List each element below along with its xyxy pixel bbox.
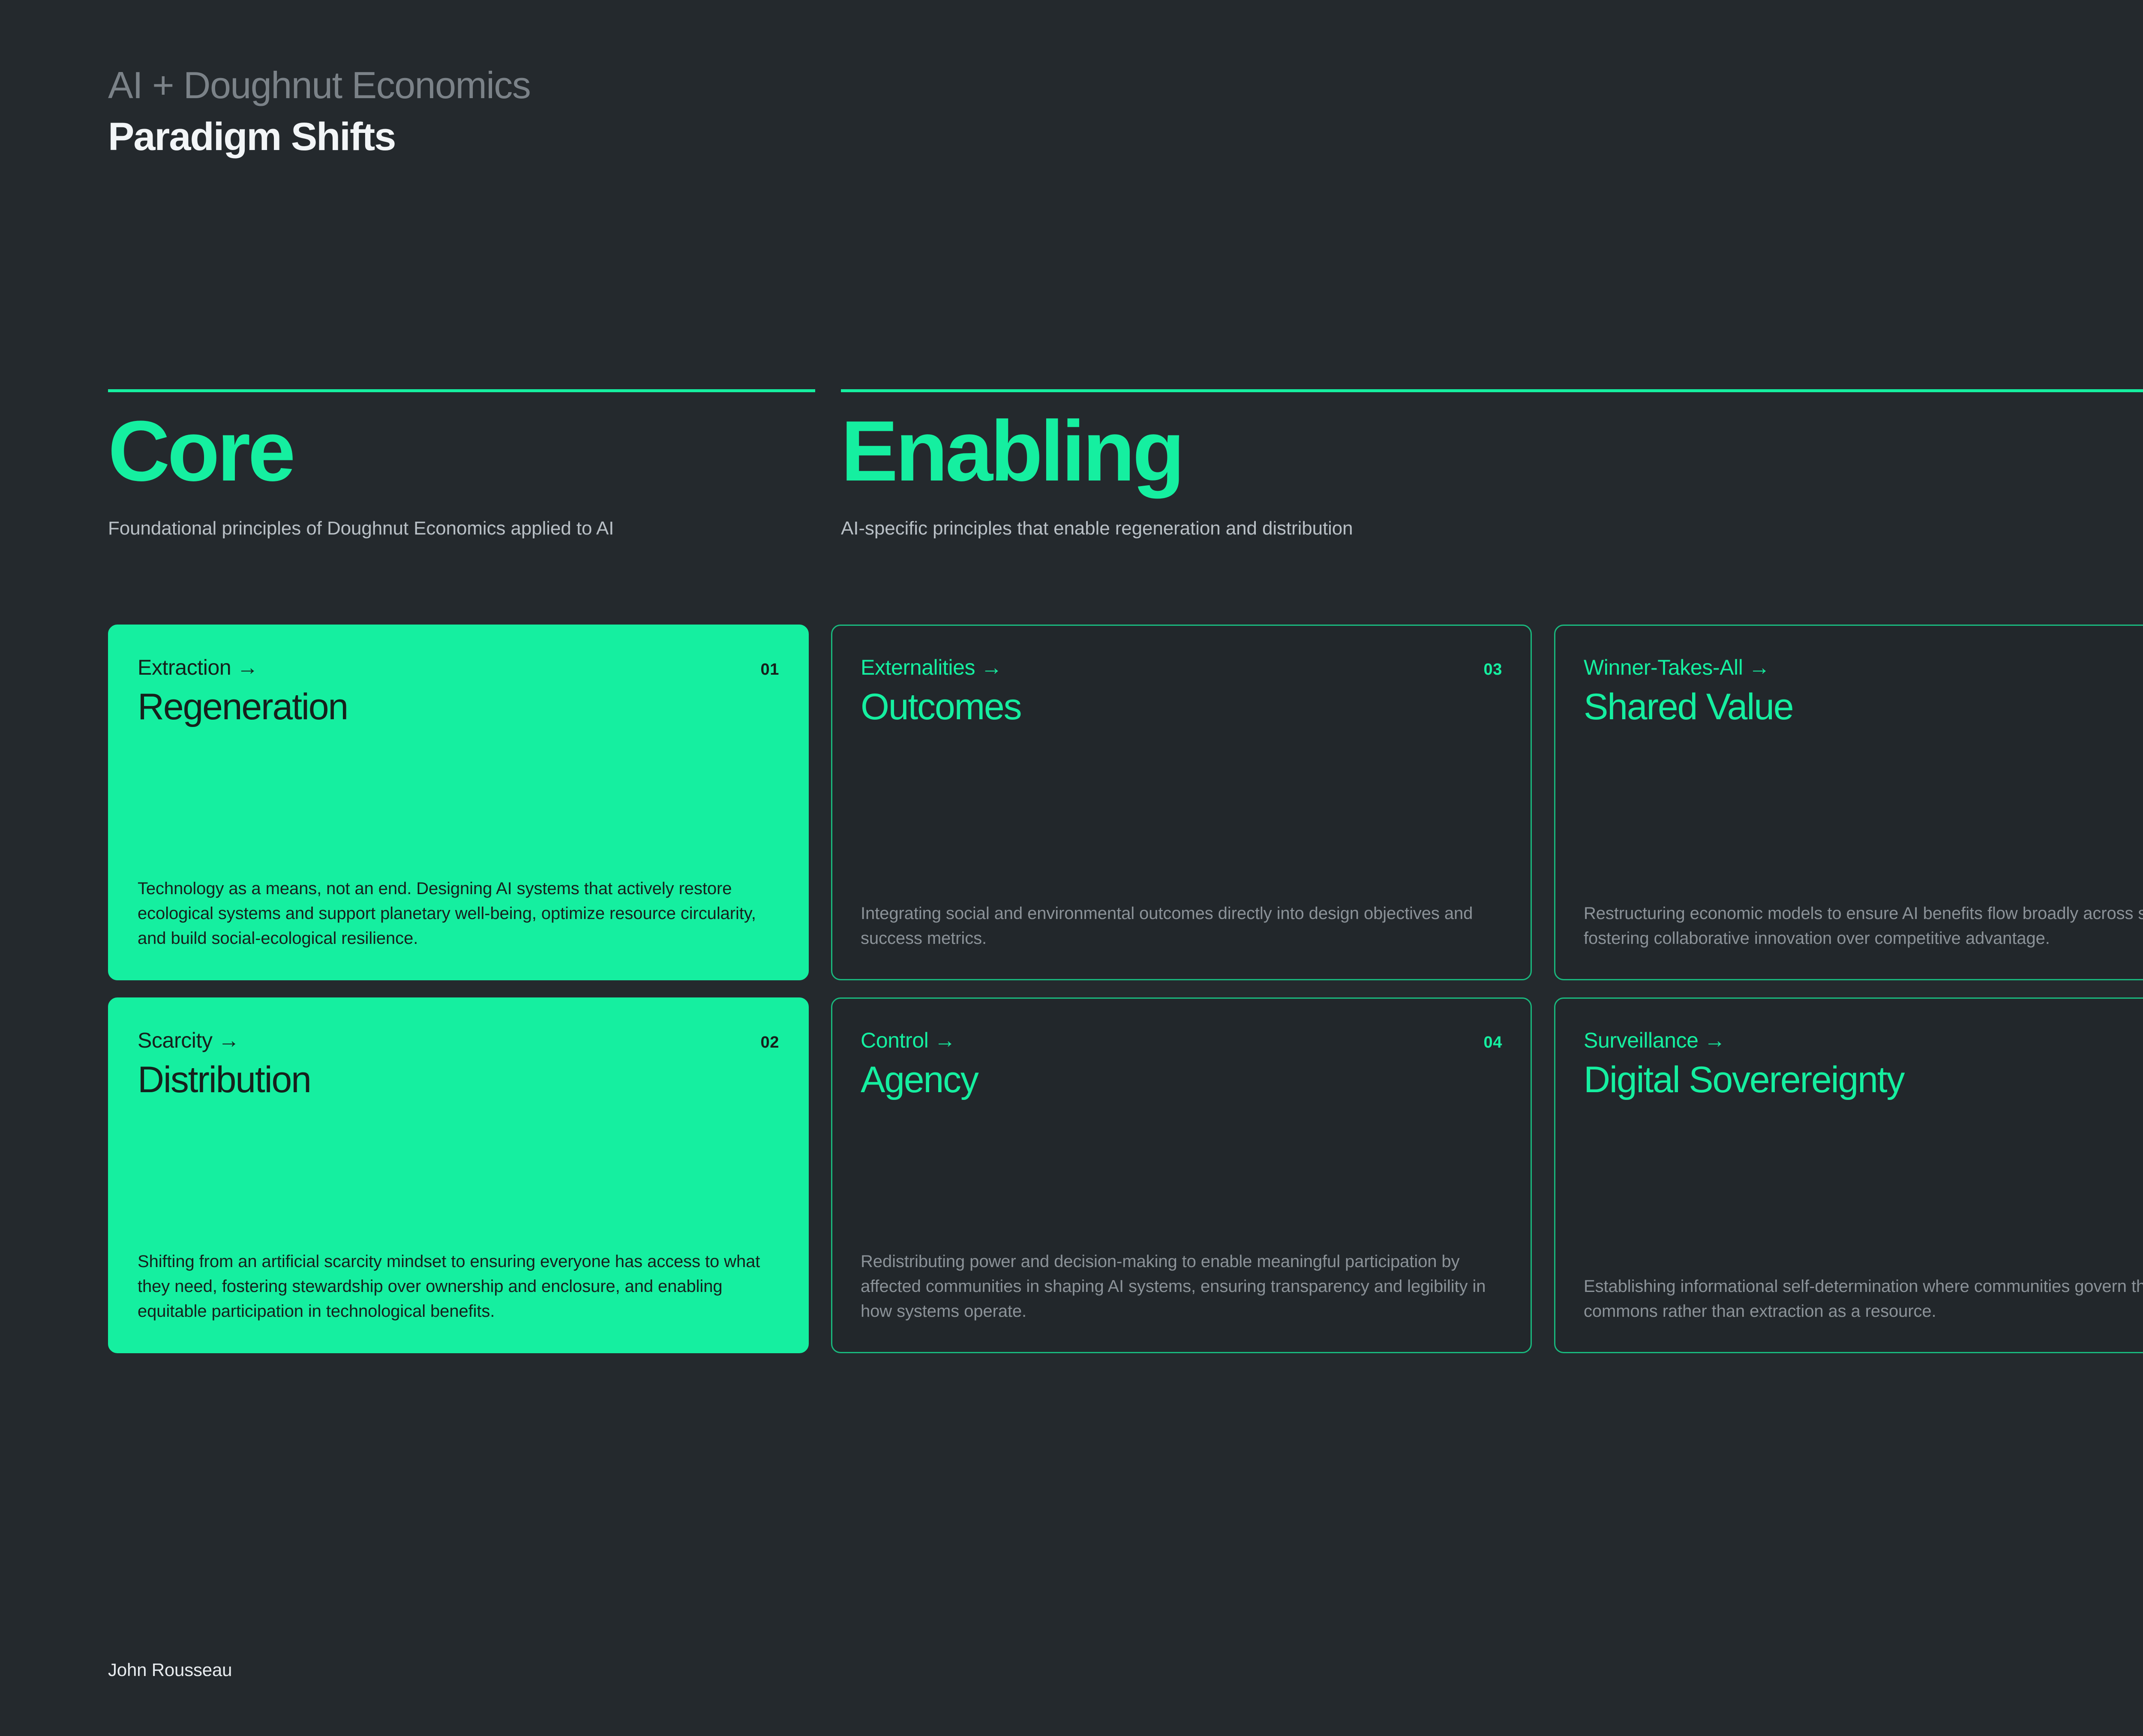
header: AI + Doughnut Economics Paradigm Shifts … [108, 0, 2143, 278]
card-to-label: Digital Soverereignty [1584, 1059, 2143, 1100]
principle-card[interactable]: Control → 04 Agency Redistributing power… [831, 997, 1532, 1353]
principle-card-grid: Extraction → 01 Regeneration Technology … [108, 625, 2143, 1353]
slide-root: AI + Doughnut Economics Paradigm Shifts … [0, 0, 2143, 1736]
section-core: Core Foundational principles of Doughnut… [108, 389, 815, 541]
section-enabling-description: AI-specific principles that enable regen… [841, 516, 2143, 541]
principle-card[interactable]: Extraction → 01 Regeneration Technology … [108, 625, 809, 980]
card-number: 03 [1484, 661, 1502, 679]
card-header: Scarcity → 02 [138, 1029, 779, 1052]
card-body-text: Integrating social and environmental out… [861, 901, 1502, 951]
principle-card[interactable]: Surveillance → 06 Digital Soverereignty … [1554, 997, 2143, 1353]
card-body-text: Redistributing power and decision-making… [861, 1249, 1502, 1324]
footer-author: John Rousseau [108, 1660, 232, 1680]
page-title: Paradigm Shifts [108, 114, 530, 160]
footer: John Rousseau johnrousseau.com 03.2025 [108, 1660, 2143, 1680]
card-number: 04 [1484, 1034, 1502, 1052]
card-from-label: Extraction → [138, 656, 258, 679]
section-core-description: Foundational principles of Doughnut Econ… [108, 516, 815, 541]
card-body-text: Technology as a means, not an end. Desig… [138, 876, 779, 951]
section-rule [841, 389, 2143, 392]
section-core-name: Core [108, 408, 815, 494]
principle-card[interactable]: Scarcity → 02 Distribution Shifting from… [108, 997, 809, 1353]
card-number: 01 [761, 661, 779, 679]
principle-card[interactable]: Winner-Takes-All → 05 Shared Value Restr… [1554, 625, 2143, 980]
card-header: Extraction → 01 [138, 656, 779, 679]
principle-card[interactable]: Externalities → 03 Outcomes Integrating … [831, 625, 1532, 980]
card-header: Control → 04 [861, 1029, 1502, 1052]
card-body-text: Establishing informational self-determin… [1584, 1274, 2143, 1324]
eyebrow-label: AI + Doughnut Economics [108, 64, 530, 107]
card-to-label: Shared Value [1584, 686, 2143, 727]
card-header: Externalities → 03 [861, 656, 1502, 679]
card-from-label: Scarcity → [138, 1029, 240, 1052]
card-from-label: Externalities → [861, 656, 1002, 679]
card-header: Winner-Takes-All → 05 [1584, 656, 2143, 679]
card-body-text: Shifting from an artificial scarcity min… [138, 1249, 779, 1324]
section-enabling: Enabling AI-specific principles that ena… [841, 389, 2143, 541]
card-to-label: Agency [861, 1059, 1502, 1100]
card-header: Surveillance → 06 [1584, 1029, 2143, 1052]
card-number: 02 [761, 1034, 779, 1052]
card-from-label: Surveillance → [1584, 1029, 1726, 1052]
section-headings: Core Foundational principles of Doughnut… [108, 389, 2143, 541]
section-rule [108, 389, 815, 392]
title-block: AI + Doughnut Economics Paradigm Shifts [108, 64, 530, 160]
card-to-label: Distribution [138, 1059, 779, 1100]
card-from-label: Control → [861, 1029, 955, 1052]
card-from-label: Winner-Takes-All → [1584, 656, 1770, 679]
card-to-label: Outcomes [861, 686, 1502, 727]
section-enabling-name: Enabling [841, 408, 2143, 494]
card-to-label: Regeneration [138, 686, 779, 727]
card-body-text: Restructuring economic models to ensure … [1584, 901, 2143, 951]
